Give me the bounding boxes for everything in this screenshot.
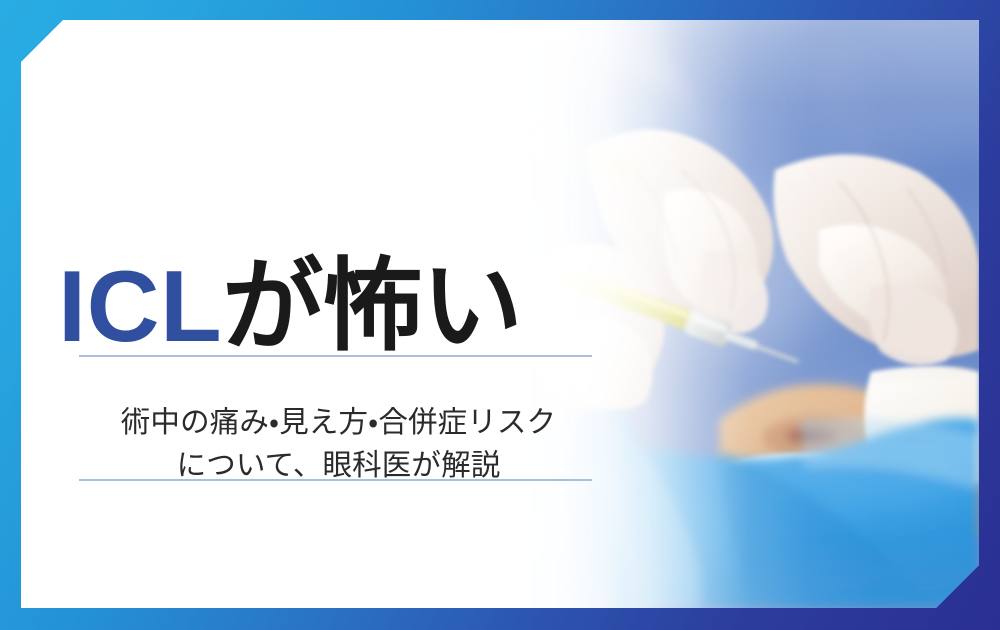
title-brand-icl: ICL bbox=[58, 251, 222, 363]
eyecatch-banner: ICLが怖い 術中の痛み・見え方・合併症リスク について、眼科医が解説 bbox=[0, 0, 1000, 630]
title-rest: が怖い bbox=[222, 251, 521, 363]
divider-bottom bbox=[79, 479, 592, 481]
divider-top bbox=[79, 355, 592, 357]
page-title: ICLが怖い bbox=[58, 256, 618, 359]
page-subtitle: 術中の痛み・見え方・合併症リスク について、眼科医が解説 bbox=[66, 401, 611, 488]
white-card: ICLが怖い 術中の痛み・見え方・合併症リスク について、眼科医が解説 bbox=[21, 20, 979, 608]
subtitle-line-1: 術中の痛み・見え方・合併症リスク bbox=[66, 401, 611, 444]
text-column: ICLが怖い 術中の痛み・見え方・合併症リスク について、眼科医が解説 bbox=[58, 20, 618, 608]
